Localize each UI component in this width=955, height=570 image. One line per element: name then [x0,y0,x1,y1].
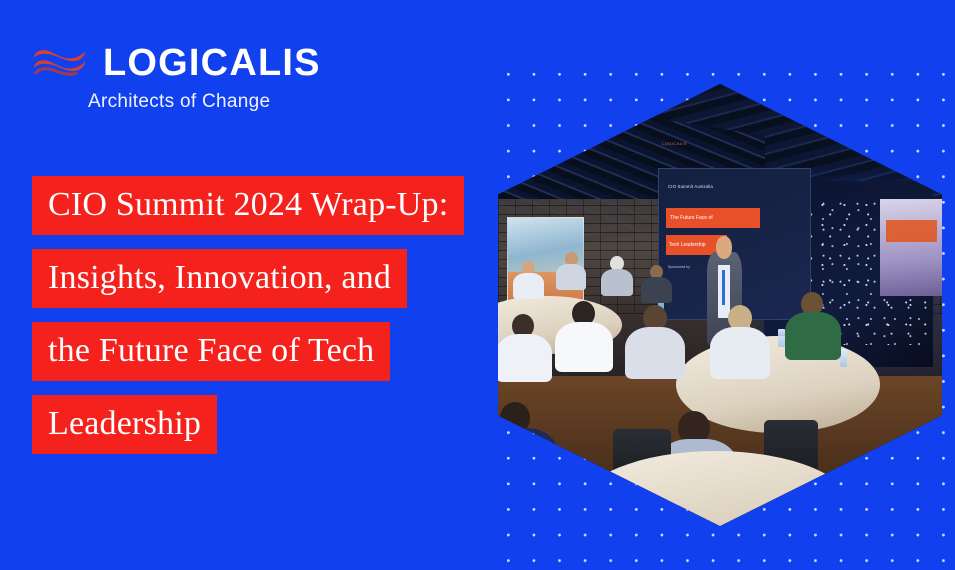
hexagon-photo-frame: LOGICALIS #LogicalisCIOSummit CIO Summit… [498,84,942,526]
brand-tagline: Architects of Change [88,91,321,113]
headline-line-1: CIO Summit 2024 Wrap-Up: [32,176,464,235]
slide-band-line-1: The Future Face of [670,215,713,221]
headline-block: CIO Summit 2024 Wrap-Up: Insights, Innov… [32,176,464,454]
presenter-head [716,236,731,258]
slide-subtitle: Sponsored by [668,265,690,269]
slide-band-primary: The Future Face of [666,208,760,228]
headline-line-2: Insights, Innovation, and [32,249,407,308]
slide-heading: CIO Summit Australia [668,184,713,189]
wall-hashtag-text: #LogicalisCIOSummit [862,146,902,150]
marketing-banner: LOGICALIS #LogicalisCIOSummit CIO Summit… [0,0,955,570]
wall-logo-text: LOGICALIS [662,141,687,146]
brand-logo: LOGICALIS Architects of Change [32,44,321,113]
conference-photo: LOGICALIS #LogicalisCIOSummit CIO Summit… [498,84,942,526]
side-screen-right [880,199,942,296]
headline-line-3: the Future Face of Tech [32,322,390,381]
logicalis-wave-icon [32,46,87,80]
brand-wordmark: LOGICALIS [103,44,321,82]
presenter-lanyard [722,270,726,305]
slide-band-line-2: Tech Leadership [669,242,706,248]
headline-line-4: Leadership [32,395,217,454]
